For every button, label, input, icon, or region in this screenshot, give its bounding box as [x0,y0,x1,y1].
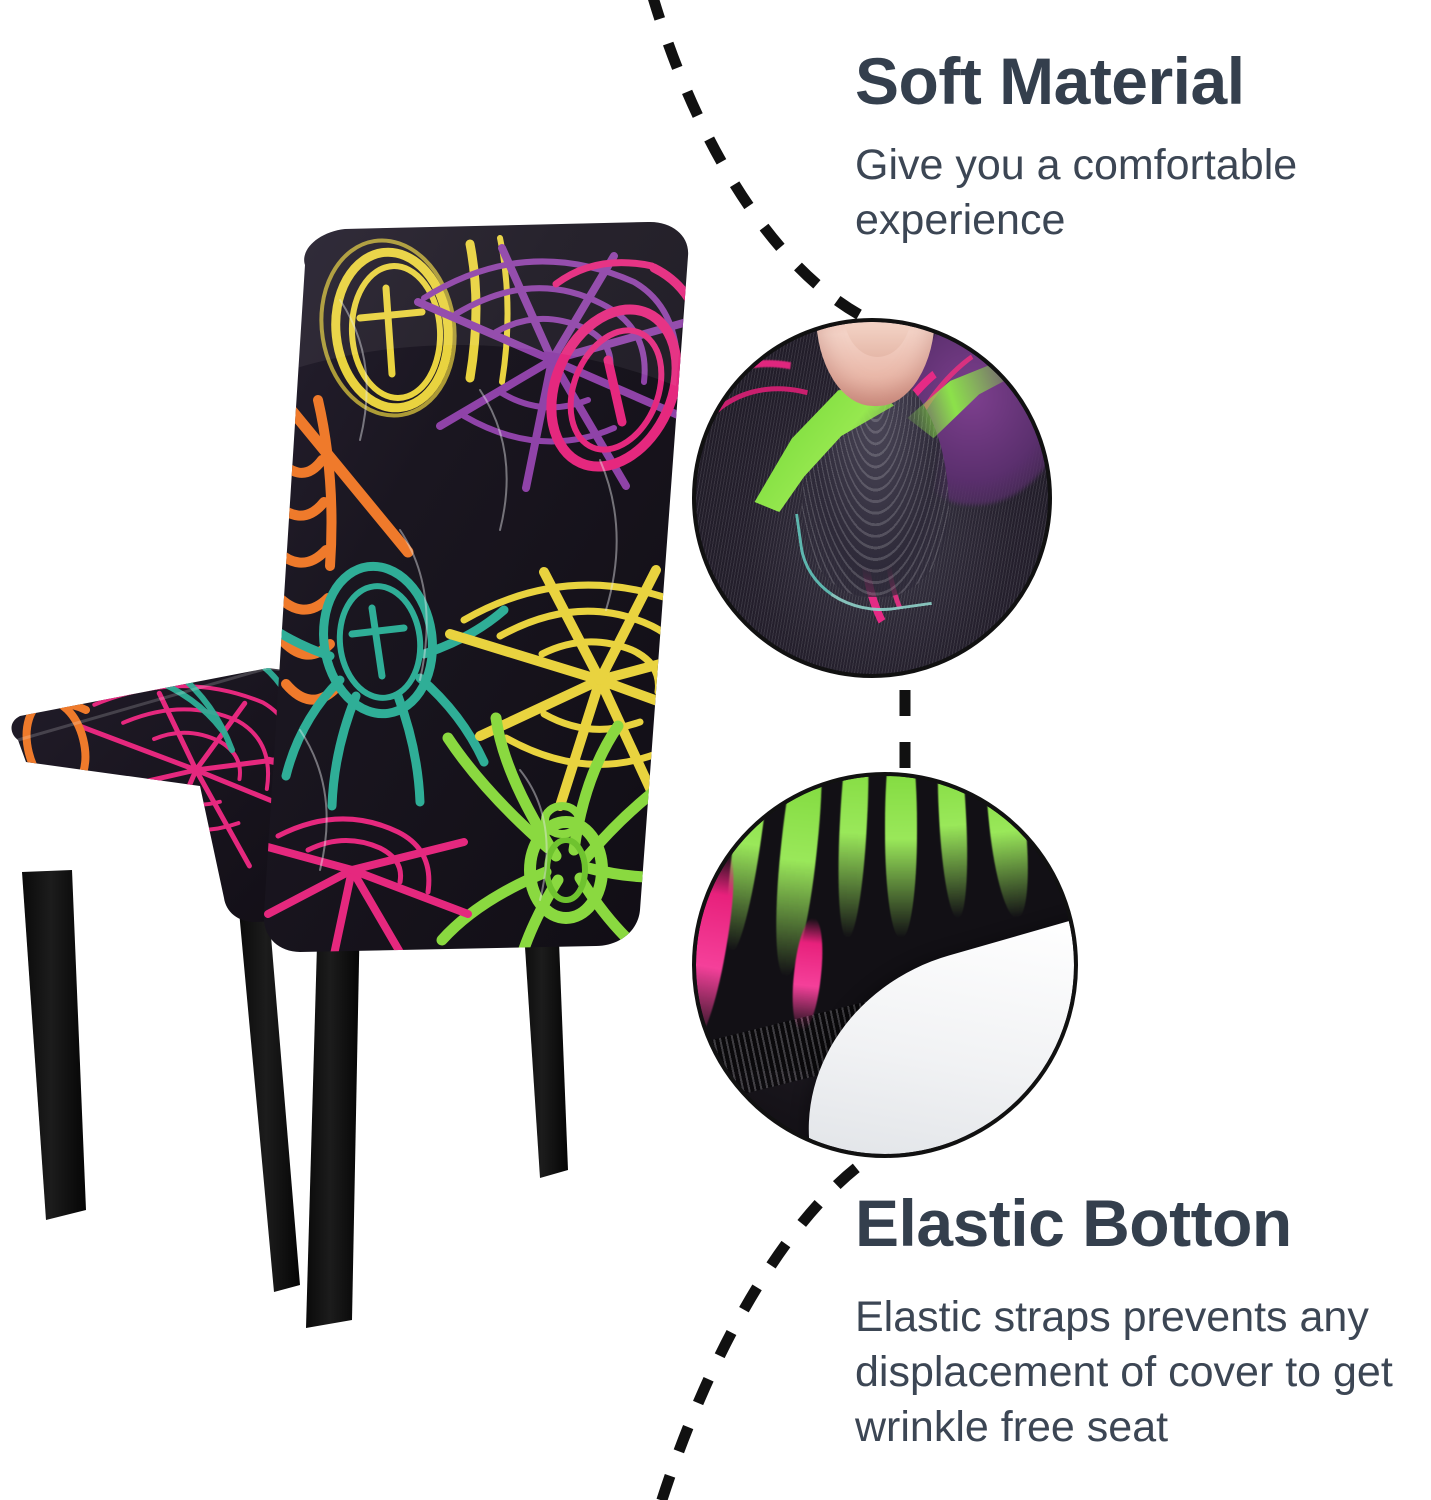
fabric-pinch-macro-icon [692,318,1052,678]
dining-chair-with-cover [0,210,700,1370]
infographic-page: Soft Material Give you a comfortable exp… [0,0,1431,1500]
feature-title-soft-material: Soft Material [855,42,1431,120]
feature-body-soft-material: Give you a comfortable experience [855,120,1431,248]
chair-backrest-cover [242,222,700,1000]
feature-soft-material: Soft Material Give you a comfortable exp… [855,42,1431,248]
feature-title-elastic-bottom: Elastic Botton [855,1184,1431,1262]
feature-body-elastic-bottom: Elastic straps prevents any displacement… [855,1262,1431,1455]
elastic-hem-macro-icon [692,772,1078,1158]
feature-elastic-bottom: Elastic Botton Elastic straps prevents a… [855,1184,1431,1455]
